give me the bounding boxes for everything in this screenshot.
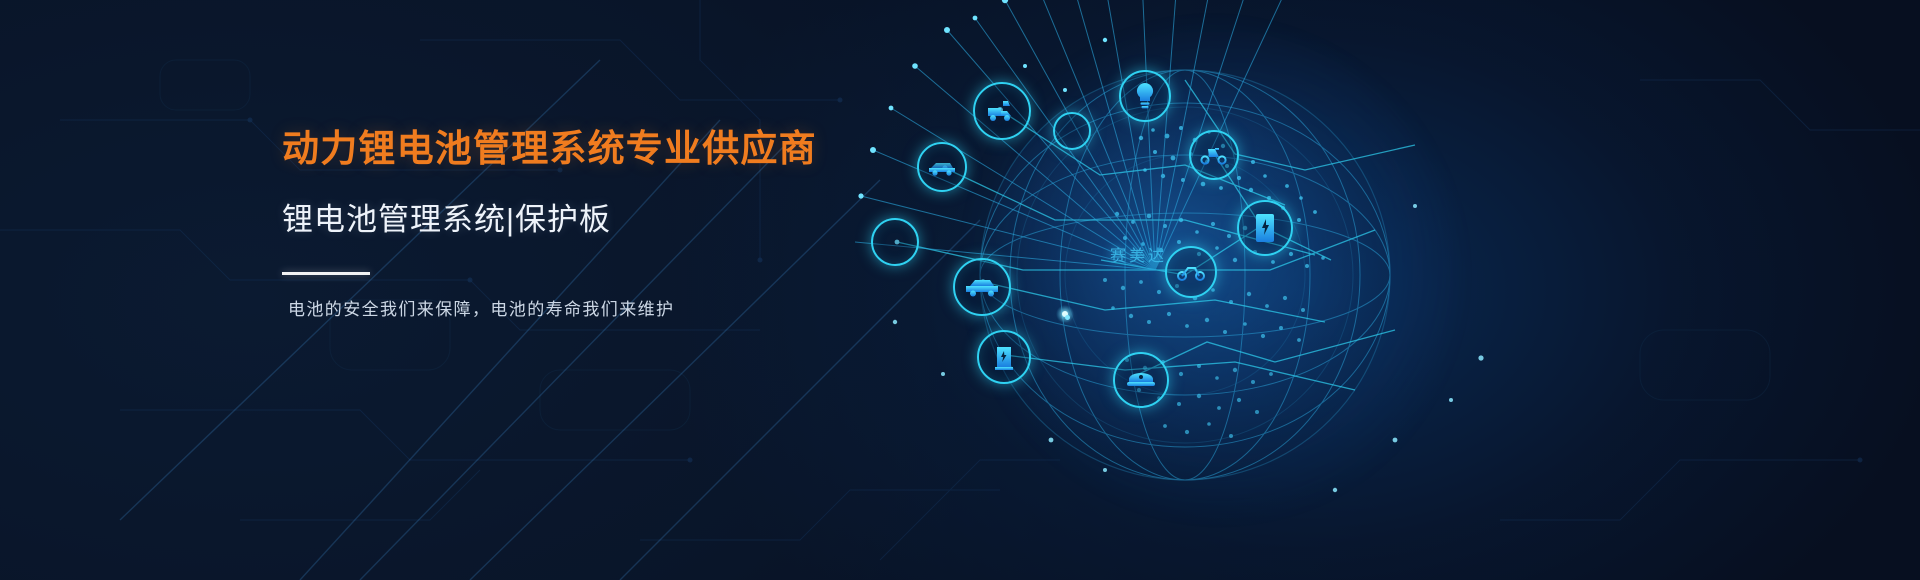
- empty-node-icon: [871, 218, 919, 266]
- charging-pile-icon: [977, 330, 1031, 384]
- battery-bolt-icon: [1237, 200, 1293, 256]
- banner-copy: 动力锂电池管理系统专业供应商 锂电池管理系统|保护板 电池的安全我们来保障，电池…: [282, 126, 902, 323]
- page-title: 动力锂电池管理系统专业供应商: [282, 126, 902, 172]
- car-side-icon: [917, 142, 967, 192]
- delivery-truck-icon: [973, 82, 1031, 140]
- network-globe-graphic: 赛美达: [855, 0, 1515, 580]
- globe-brandmark: 赛美达: [1110, 242, 1167, 266]
- hero-banner: 动力锂电池管理系统专业供应商 锂电池管理系统|保护板 电池的安全我们来保障，电池…: [0, 0, 1920, 580]
- car-side-icon: [953, 258, 1011, 316]
- banner-tagline: 电池的安全我们来保障，电池的寿命我们来维护: [288, 297, 902, 323]
- sparkle-dot: [1065, 315, 1070, 320]
- banner-subtitle: 锂电池管理系统|保护板: [282, 200, 902, 240]
- scooter-icon: [1189, 130, 1239, 180]
- lightbulb-icon: [1119, 70, 1171, 122]
- ebike-icon: [1165, 246, 1217, 298]
- robot-vacuum-icon: [1113, 352, 1169, 408]
- empty-node-icon: [1053, 112, 1091, 150]
- divider-rule: [282, 272, 370, 275]
